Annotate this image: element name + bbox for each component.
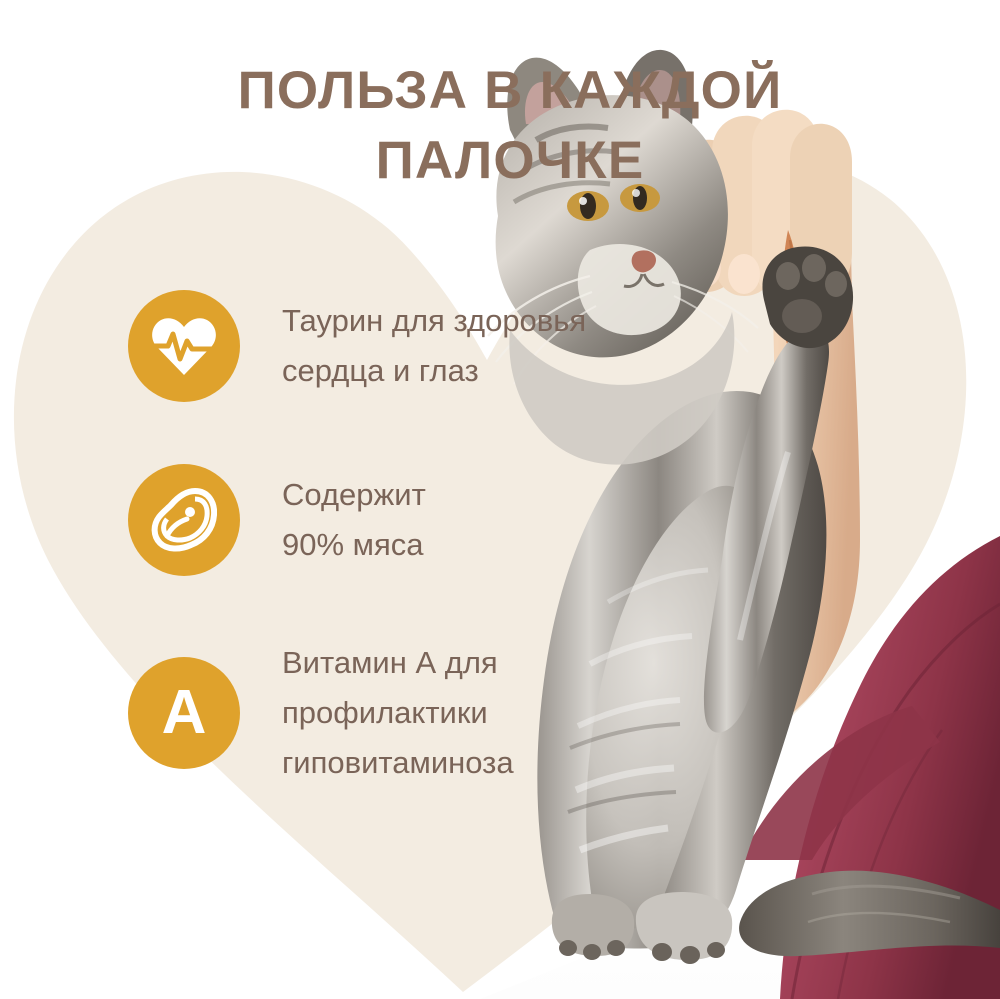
- benefits-list: Таурин для здоровья сердца и глаз Содерж…: [128, 290, 688, 789]
- benefit-item-vitamin-a: A Витамин А для профилактики гиповитамин…: [128, 638, 688, 789]
- benefit-item-meat: Содержит 90% мяса: [128, 464, 688, 576]
- benefit-item-taurine: Таурин для здоровья сердца и глаз: [128, 290, 688, 402]
- benefit-text: Содержит 90% мяса: [282, 470, 426, 570]
- poster-title: ПОЛЬЗА В КАЖДОЙ ПАЛОЧКЕ: [150, 56, 870, 197]
- benefit-text: Витамин А для профилактики гиповитаминоз…: [282, 638, 514, 789]
- benefit-text: Таурин для здоровья сердца и глаз: [282, 296, 586, 396]
- heart-pulse-icon: [128, 290, 240, 402]
- vitamin-a-letter: A: [162, 682, 207, 744]
- product-benefits-poster: ПОЛЬЗА В КАЖДОЙ ПАЛОЧКЕ Таурин для здоро…: [0, 0, 1000, 999]
- meat-steak-icon: [128, 464, 240, 576]
- vitamin-a-icon: A: [128, 657, 240, 769]
